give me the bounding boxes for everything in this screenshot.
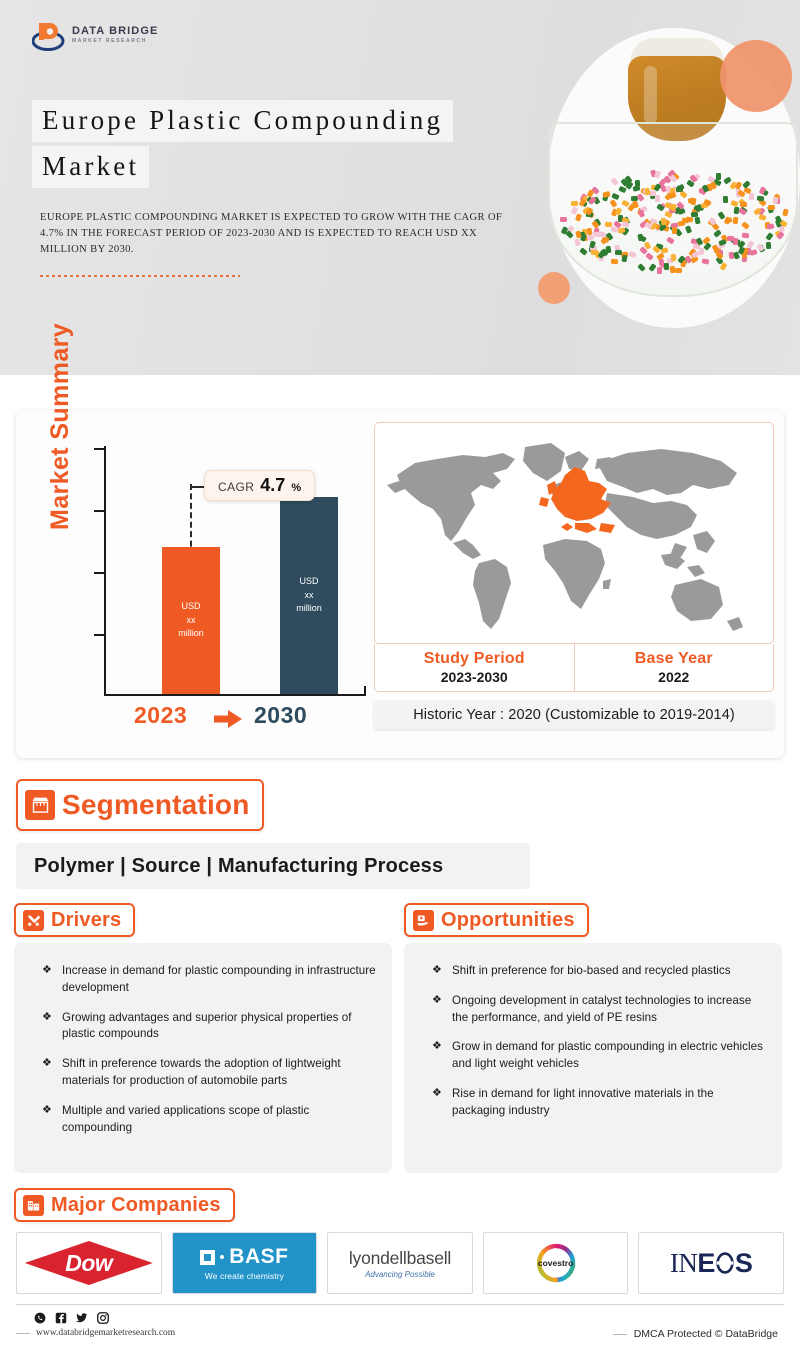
brand-logo-text: DATA BRIDGE MARKET RESEARCH: [72, 26, 158, 45]
ineos-logo-icon: INE S: [670, 1248, 753, 1279]
hero-image: [500, 0, 800, 375]
bullet-icon: ❖: [432, 993, 442, 1027]
buildings-icon: [23, 1195, 44, 1216]
study-period-label: Study Period: [424, 650, 525, 668]
list-item-label: Grow in demand for plastic compounding i…: [452, 1039, 768, 1073]
study-meta-row: Study Period 2023-2030 Base Year 2022: [374, 644, 774, 692]
company-name: BASF: [229, 1245, 288, 1269]
bar-2030-label-line2: xx: [305, 589, 314, 603]
drivers-title: Drivers: [51, 909, 121, 932]
footer-copyright: DMCA Protected © DataBridge: [613, 1328, 778, 1340]
list-item-label: Shift in preference for bio-based and re…: [452, 963, 731, 980]
list-item-label: Multiple and varied applications scope o…: [62, 1103, 378, 1137]
segmentation-items: Polymer | Source | Manufacturing Process: [16, 843, 530, 889]
study-period-cell: Study Period 2023-2030: [375, 644, 574, 691]
cagr-label: CAGR: [218, 480, 254, 494]
footer-divider: [16, 1304, 784, 1305]
list-item: ❖ Growing advantages and superior physic…: [28, 1010, 378, 1044]
title-line-2: Market: [32, 146, 149, 188]
bar-2023-label-line2: xx: [187, 614, 196, 628]
list-item: ❖ Rise in demand for light innovative ma…: [418, 1086, 768, 1120]
bullet-icon: ❖: [432, 1039, 442, 1073]
lyondellbasell-logo-icon: lyondellbasell Advancing Possible: [349, 1248, 451, 1279]
historic-year-banner: Historic Year : 2020 (Customizable to 20…: [374, 701, 774, 729]
segmentation-title: Segmentation: [62, 789, 250, 821]
footer-website[interactable]: www.databridgemarketresearch.com: [16, 1328, 175, 1338]
infographic-page: DATA BRIDGE MARKET RESEARCH Europe Plast…: [0, 0, 800, 1369]
list-item-label: Shift in preference towards the adoption…: [62, 1056, 378, 1090]
bullet-icon: ❖: [42, 963, 52, 997]
company-logo-ineos[interactable]: INE S: [638, 1232, 784, 1294]
cagr-value: 4.7: [260, 475, 285, 496]
dow-logo-icon: Dow: [25, 1241, 153, 1285]
list-item: ❖ Shift in preference for bio-based and …: [418, 963, 768, 980]
decorative-circle-large: [720, 40, 792, 112]
company-logo-dow[interactable]: Dow: [16, 1232, 162, 1294]
right-arrow-icon: [214, 710, 242, 728]
list-item: ❖ Multiple and varied applications scope…: [28, 1103, 378, 1137]
company-tagline: Advancing Possible: [365, 1270, 435, 1279]
chart-y-axis-label: Market Summary: [46, 323, 75, 530]
bar-chart: USD xx million USD xx million CAGR 4.7 %: [86, 438, 366, 708]
footer: www.databridgemarketresearch.com DMCA Pr…: [0, 1304, 800, 1369]
subtitle-divider: [40, 275, 240, 277]
opportunities-title: Opportunities: [441, 909, 575, 932]
list-item-label: Rise in demand for light innovative mate…: [452, 1086, 768, 1120]
drivers-heading: Drivers: [14, 903, 135, 937]
brand-logo[interactable]: DATA BRIDGE MARKET RESEARCH: [32, 14, 172, 56]
opportunities-heading: Opportunities: [404, 903, 589, 937]
company-logos: Dow BASF We create chemistry lyondellbas…: [16, 1232, 784, 1294]
study-period-value: 2023-2030: [441, 669, 508, 685]
whatsapp-icon[interactable]: [34, 1312, 46, 1324]
x-label-2030: 2030: [254, 702, 307, 729]
bar-2030-label-line3: million: [296, 602, 322, 616]
companies-title: Major Companies: [51, 1194, 221, 1217]
twitter-icon[interactable]: [76, 1312, 88, 1324]
covestro-logo-icon: covestro: [524, 1240, 588, 1286]
drivers-list: ❖ Increase in demand for plastic compoun…: [14, 943, 392, 1173]
list-item: ❖ Shift in preference towards the adopti…: [28, 1056, 378, 1090]
footer-url-label: www.databridgemarketresearch.com: [36, 1328, 175, 1338]
list-item: ❖ Grow in demand for plastic compounding…: [418, 1039, 768, 1073]
bar-2030: USD xx million: [280, 497, 338, 694]
base-year-label: Base Year: [635, 650, 713, 668]
header-section: DATA BRIDGE MARKET RESEARCH Europe Plast…: [0, 0, 800, 375]
company-name: covestro: [538, 1258, 573, 1268]
bars-container: USD xx million USD xx million CAGR 4.7 %: [104, 446, 366, 694]
cagr-percent-sign: %: [291, 482, 301, 494]
footer-dash-right: [613, 1334, 627, 1335]
basf-logo-icon: BASF We create chemistry: [200, 1245, 288, 1281]
companies-heading: Major Companies: [14, 1188, 235, 1222]
leader-line-2023: [190, 484, 192, 556]
tools-icon: [23, 910, 44, 931]
header-subtitle: EUROPE PLASTIC COMPOUNDING MARKET IS EXP…: [40, 210, 520, 258]
page-title: Europe Plastic Compounding Market: [32, 100, 532, 192]
bar-2023-label-line3: million: [178, 627, 204, 641]
company-tagline: We create chemistry: [205, 1271, 284, 1281]
bullet-icon: ❖: [42, 1010, 52, 1044]
list-item-label: Increase in demand for plastic compoundi…: [62, 963, 378, 997]
footer-dash: [16, 1333, 30, 1334]
opportunities-list: ❖ Shift in preference for bio-based and …: [404, 943, 782, 1173]
company-logo-lyondellbasell[interactable]: lyondellbasell Advancing Possible: [327, 1232, 473, 1294]
social-links[interactable]: [34, 1312, 109, 1324]
company-logo-basf[interactable]: BASF We create chemistry: [172, 1232, 318, 1294]
company-name: Dow: [65, 1250, 112, 1277]
cagr-connector-left: [192, 486, 204, 488]
world-map-icon: [375, 423, 774, 644]
bar-2023: USD xx million: [162, 547, 220, 694]
bullet-icon: ❖: [432, 963, 442, 980]
title-line-1: Europe Plastic Compounding: [32, 100, 453, 142]
bullet-icon: ❖: [42, 1103, 52, 1137]
list-item: ❖ Ongoing development in catalyst techno…: [418, 993, 768, 1027]
chart-x-labels: 2023 2030: [86, 702, 376, 738]
base-year-cell: Base Year 2022: [574, 644, 774, 691]
bullet-icon: ❖: [42, 1056, 52, 1090]
segmentation-heading: Segmentation: [16, 779, 264, 831]
list-item-label: Ongoing development in catalyst technolo…: [452, 993, 768, 1027]
facebook-icon[interactable]: [55, 1312, 67, 1324]
company-logo-covestro[interactable]: covestro: [483, 1232, 629, 1294]
brand-name: DATA BRIDGE: [72, 26, 158, 37]
bullet-icon: ❖: [432, 1086, 442, 1120]
bar-2030-label-line1: USD: [299, 575, 318, 589]
x-label-2023: 2023: [134, 702, 187, 729]
world-map-panel: [374, 422, 774, 644]
data-bridge-logo-icon: [32, 18, 66, 52]
brand-tagline: MARKET RESEARCH: [72, 39, 158, 44]
decorative-circle-small: [538, 272, 570, 304]
storefront-icon: [25, 790, 55, 820]
chart-x-axis: [104, 694, 366, 696]
base-year-value: 2022: [658, 669, 689, 685]
company-name: lyondellbasell: [349, 1248, 451, 1269]
instagram-icon[interactable]: [97, 1312, 109, 1324]
list-item: ❖ Increase in demand for plastic compoun…: [28, 963, 378, 997]
footer-copyright-label: DMCA Protected © DataBridge: [634, 1328, 778, 1340]
cagr-badge: CAGR 4.7 %: [204, 470, 315, 501]
hand-offer-icon: [413, 910, 434, 931]
pellet-bowl-graphic: [548, 122, 798, 302]
bar-2023-label-line1: USD: [181, 600, 200, 614]
list-item-label: Growing advantages and superior physical…: [62, 1010, 378, 1044]
